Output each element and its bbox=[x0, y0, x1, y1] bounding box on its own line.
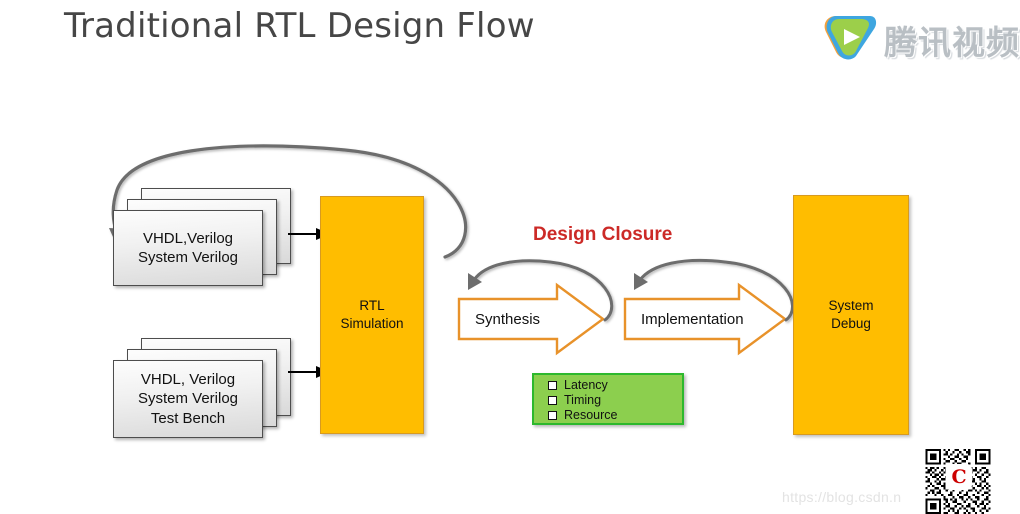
rtl-simulation-box: RTL Simulation bbox=[320, 196, 424, 434]
source-document-stack: VHDL,Verilog System Verilog bbox=[113, 188, 293, 296]
tencent-video-logo-text: 腾讯视频 bbox=[884, 16, 1020, 64]
qr-code: C bbox=[899, 449, 1017, 514]
slide-canvas: Traditional RTL Design Flow 腾讯视频 VHDL,Ve… bbox=[0, 0, 1020, 514]
design-closure-metrics-box: Latency Timing Resource bbox=[532, 373, 684, 425]
square-bullet-icon bbox=[548, 411, 557, 420]
square-bullet-icon bbox=[548, 396, 557, 405]
metric-item-timing: Timing bbox=[548, 393, 682, 408]
metric-item-resource: Resource bbox=[548, 408, 682, 423]
page-title: Traditional RTL Design Flow bbox=[64, 6, 535, 46]
document-sheet-front-label: VHDL,Verilog System Verilog bbox=[113, 210, 263, 286]
testbench-document-stack: VHDL, Verilog System Verilog Test Bench bbox=[113, 338, 293, 448]
metric-label-resource: Resource bbox=[564, 407, 618, 424]
tencent-play-icon bbox=[822, 12, 876, 62]
tencent-video-logo: 腾讯视频 bbox=[818, 8, 1020, 66]
csdn-watermark: https://blog.csdn.n bbox=[782, 489, 901, 505]
csdn-logo-icon: C bbox=[946, 464, 972, 490]
testbench-sheet-front-label: VHDL, Verilog System Verilog Test Bench bbox=[113, 360, 263, 438]
metric-item-latency: Latency bbox=[548, 378, 682, 393]
feedback-loop-arrow-synthesis bbox=[455, 252, 615, 322]
system-debug-box: System Debug bbox=[793, 195, 909, 435]
square-bullet-icon bbox=[548, 381, 557, 390]
feedback-loop-arrow-implementation bbox=[620, 252, 795, 322]
design-closure-label: Design Closure bbox=[533, 224, 672, 246]
